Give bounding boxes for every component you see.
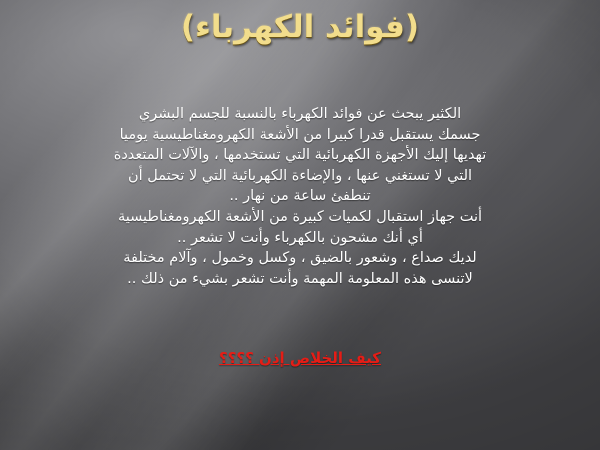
slide-title: (فوائد الكهرباء) (181, 8, 419, 47)
body-line: أنت جهاز استقبال لكميات كبيرة من الأشعة … (0, 207, 600, 228)
body-line: التي لا تستغني عنها ، والإضاءة الكهربائي… (0, 166, 600, 187)
body-line: لديك صداع ، وشعور بالضيق ، وكسل وخمول ، … (0, 248, 600, 269)
slide-closing-question: كيف الخلاص إذن ؟؟؟؟ (0, 349, 600, 367)
slide-body-text: الكثير يبحث عن فوائد الكهرباء بالنسبة لل… (0, 104, 600, 289)
body-line: أي أنك مشحون بالكهرباء وأنت لا تشعر .. (0, 228, 600, 249)
body-line: لاتنسى هذه المعلومة المهمة وأنت تشعر بشي… (0, 269, 600, 290)
body-line: الكثير يبحث عن فوائد الكهرباء بالنسبة لل… (0, 104, 600, 125)
body-line: تنطفئ ساعة من نهار .. (0, 186, 600, 207)
presentation-slide: (فوائد الكهرباء) الكثير يبحث عن فوائد ال… (0, 0, 600, 450)
slide-title-container: (فوائد الكهرباء) (0, 8, 600, 47)
body-line: تهديها إليك الأجهزة الكهربائية التي تستخ… (0, 145, 600, 166)
body-line: جسمك يستقبل قدرا كبيرا من الأشعة الكهروم… (0, 125, 600, 146)
